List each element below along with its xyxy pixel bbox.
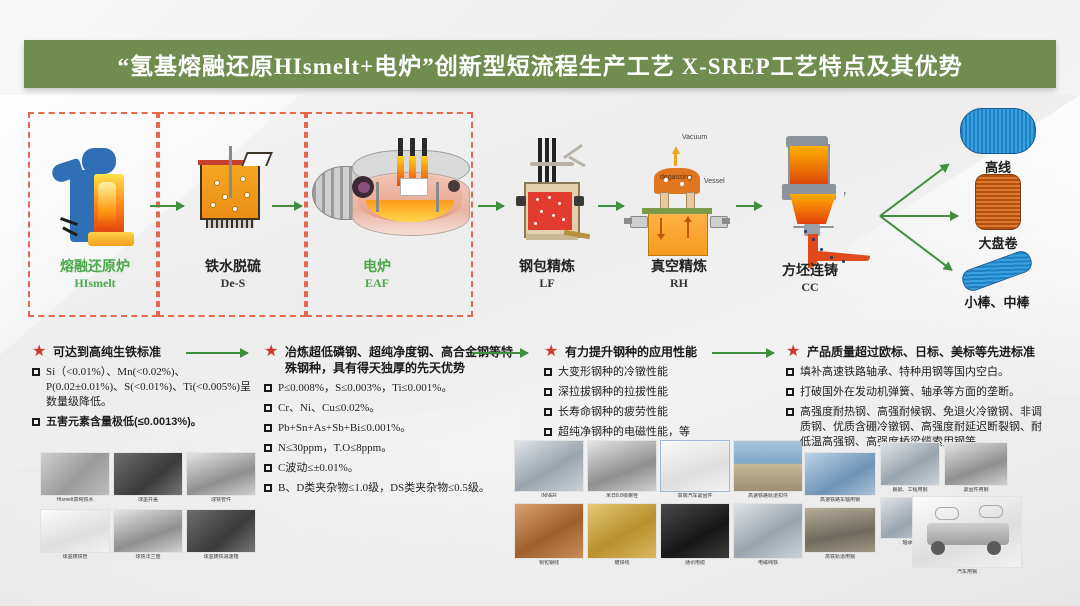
bullet-square-icon bbox=[264, 384, 272, 392]
product-arrow-middle bbox=[880, 215, 958, 217]
bullet-square-icon bbox=[544, 428, 552, 436]
wire-rod-coil-graphic bbox=[960, 108, 1036, 154]
feature-item: 超纯净钢种的电磁性能，等 bbox=[544, 425, 774, 440]
stage-cc: 方坯连铸 CC bbox=[760, 262, 860, 295]
feature-item: 打破国外在发动机弹簧、轴承等方面的垄断。 bbox=[786, 385, 1052, 400]
product-wire-rod: 高线 bbox=[950, 108, 1046, 176]
flow-arrow-3 bbox=[478, 205, 504, 207]
thumbnail-item[interactable]: 米日8.8级螺栓 bbox=[587, 440, 657, 500]
thumbnail-grid-1: HIsmelt高纯铁水 球墨井盖 球铁管件 球墨铸铁管 球铁法兰盘 球墨铸铁减速… bbox=[40, 452, 260, 563]
feature-item: Si（<0.01%）、Mn(<0.02%)、P(0.02±0.01%)、S(<0… bbox=[32, 365, 256, 410]
star-icon: ★ bbox=[786, 345, 801, 360]
thumbnail-item[interactable]: 通讯电缆 bbox=[660, 503, 730, 567]
star-icon: ★ bbox=[264, 345, 279, 360]
hismelt-furnace-illustration bbox=[52, 148, 138, 248]
bullet-square-icon bbox=[264, 464, 272, 472]
process-flow-diagram: 熔融还原炉 HIsmelt 铁水脱硫 De-S bbox=[0, 100, 1080, 330]
feature-item: Pb+Sn+As+Sb+Bi≤0.001%。 bbox=[264, 421, 516, 436]
thumbnail-item[interactable]: 球墨井盖 bbox=[113, 452, 183, 506]
stage-des: 铁水脱硫 De-S bbox=[186, 258, 280, 291]
feature-item: 大变形钢种的冷镦性能 bbox=[544, 365, 774, 380]
bullet-square-icon bbox=[264, 404, 272, 412]
thumbnail-item[interactable]: HIsmelt高纯铁水 bbox=[40, 452, 110, 506]
star-icon: ★ bbox=[32, 345, 47, 360]
bullet-square-icon bbox=[264, 484, 272, 492]
thumbnail-item[interactable]: 紧固件用钢 bbox=[944, 442, 1008, 494]
page-title: “氢基熔融还原HIsmelt+电炉”创新型短流程生产工艺 X-SREP工艺特点及… bbox=[117, 47, 962, 81]
flow-arrow-2 bbox=[272, 205, 302, 207]
thumbnail-item[interactable]: 高端汽车紧固件 bbox=[660, 440, 730, 500]
thumbnail-item[interactable]: 铜包钢线 bbox=[514, 503, 584, 567]
feature-item: Cr、Ni、Cu≤0.02%。 bbox=[264, 401, 516, 416]
stage-lf: 钢包精炼 LF bbox=[500, 258, 594, 291]
feature-item: B、D类夹杂物≤1.0级，DS类夹杂物≤0.5级。 bbox=[264, 481, 516, 496]
feature-column-1: ★ 可达到高纯生铁标准 Si（<0.01%）、Mn(<0.02%)、P(0.02… bbox=[32, 344, 256, 430]
thumbnail-item[interactable]: 球墨铸铁管 bbox=[40, 509, 110, 563]
rh-label-vacuum: Vacuum bbox=[682, 134, 707, 141]
product-bars: 小棒、中棒 bbox=[942, 260, 1052, 311]
stage-rh: 真空精炼 RH bbox=[632, 258, 726, 291]
feature-item: P≤0.008%，S≤0.003%，Ti≤0.001%。 bbox=[264, 381, 516, 396]
rh-degasser-illustration: Vacuum degassing Vessel bbox=[624, 124, 730, 254]
continuous-casting-illustration bbox=[768, 130, 878, 270]
feature-arrow-3 bbox=[712, 352, 774, 354]
bullet-square-icon bbox=[264, 444, 272, 452]
flow-arrow-4 bbox=[598, 205, 624, 207]
bullet-square-icon bbox=[786, 388, 794, 396]
thumbnail-item[interactable]: 球墨铸铁减速箱 bbox=[186, 509, 256, 563]
product-large-coil: 大盘卷 bbox=[950, 174, 1046, 252]
feature-column-4: ★ 产品质量超过欧标、日标、美标等先进标准 填补高速铁路轴承、特种用钢等国内空白… bbox=[786, 344, 1052, 450]
thumbnail-item[interactable]: 高速铁路车轴用钢 bbox=[804, 452, 876, 504]
feature-item: 五害元素含量极低(≤0.0013%)。 bbox=[32, 415, 256, 430]
lf-ladle-furnace-illustration bbox=[506, 138, 588, 250]
flow-arrow-5 bbox=[736, 205, 762, 207]
feature-arrow-2 bbox=[472, 352, 528, 354]
thumbnail-item[interactable]: INNER bbox=[514, 440, 584, 500]
feature-columns: ★ 可达到高纯生铁标准 Si（<0.01%）、Mn(<0.02%)、P(0.02… bbox=[0, 336, 1080, 606]
bullet-square-icon bbox=[32, 368, 40, 376]
thumbnail-item[interactable]: 舰艇、工程用钢 bbox=[880, 442, 940, 494]
thumbnail-item[interactable]: 高铁轨道用钢 bbox=[804, 507, 876, 561]
star-icon: ★ bbox=[544, 345, 559, 360]
rh-label-vessel: Vessel bbox=[704, 178, 725, 185]
feature-item: C波动≤±0.01%。 bbox=[264, 461, 516, 476]
desulfurization-ladle-illustration bbox=[192, 146, 270, 238]
feature-column-2: ★ 冶炼超低磷钢、超纯净度钢、高合金钢等特殊钢种，具有得天独厚的先天优势 P≤0… bbox=[264, 344, 516, 496]
stage-hismelt: 熔融还原炉 HIsmelt bbox=[48, 258, 142, 291]
stage-eaf: 电炉 EAF bbox=[330, 258, 424, 291]
thumbnail-item[interactable]: 电磁纯铁 bbox=[733, 503, 803, 567]
feature-item: 深拉拔钢种的拉拔性能 bbox=[544, 385, 774, 400]
product-arrow-top bbox=[879, 163, 949, 216]
large-coil-graphic bbox=[975, 174, 1021, 230]
thumbnail-grid-4a: 高速铁路车轴用钢 高铁轨道用钢 bbox=[804, 452, 876, 561]
thumbnail-item[interactable]: 球铁管件 bbox=[186, 452, 256, 506]
bar-bundle-graphic bbox=[959, 248, 1034, 293]
thumbnail-grid-3: INNER 米日8.8级螺栓 高端汽车紧固件 高速铁路轨道扣件 铜包钢线 镀锌线 bbox=[514, 440, 802, 567]
feature-column-3: ★ 有力提升钢种的应用性能 大变形钢种的冷镦性能 深拉拔钢种的拉拔性能 长寿命钢… bbox=[544, 344, 774, 440]
feature-heading-2: ★ 冶炼超低磷钢、超纯净度钢、高合金钢等特殊钢种，具有得天独厚的先天优势 bbox=[264, 344, 516, 376]
flow-arrow-1 bbox=[150, 205, 184, 207]
bullet-square-icon bbox=[544, 408, 552, 416]
bullet-square-icon bbox=[264, 424, 272, 432]
bullet-square-icon bbox=[32, 418, 40, 426]
feature-item: 填补高速铁路轴承、特种用钢等国内空白。 bbox=[786, 365, 1052, 380]
feature-item: N≤30ppm，T.O≤8ppm。 bbox=[264, 441, 516, 456]
thumbnail-item[interactable]: 镀锌线 bbox=[587, 503, 657, 567]
thumbnail-item-automotive[interactable]: 汽车用钢 bbox=[912, 496, 1022, 576]
bullet-square-icon bbox=[544, 388, 552, 396]
bullet-square-icon bbox=[544, 368, 552, 376]
bullet-square-icon bbox=[786, 368, 794, 376]
thumbnail-item[interactable]: 球铁法兰盘 bbox=[113, 509, 183, 563]
bullet-square-icon bbox=[786, 408, 794, 416]
feature-item: 长寿命钢种的疲劳性能 bbox=[544, 405, 774, 420]
eaf-illustration bbox=[312, 138, 470, 246]
feature-arrow-1 bbox=[186, 352, 248, 354]
feature-heading-4: ★ 产品质量超过欧标、日标、美标等先进标准 bbox=[786, 344, 1052, 360]
title-banner: “氢基熔融还原HIsmelt+电炉”创新型短流程生产工艺 X-SREP工艺特点及… bbox=[24, 40, 1056, 88]
slide-root: “氢基熔融还原HIsmelt+电炉”创新型短流程生产工艺 X-SREP工艺特点及… bbox=[0, 0, 1080, 606]
